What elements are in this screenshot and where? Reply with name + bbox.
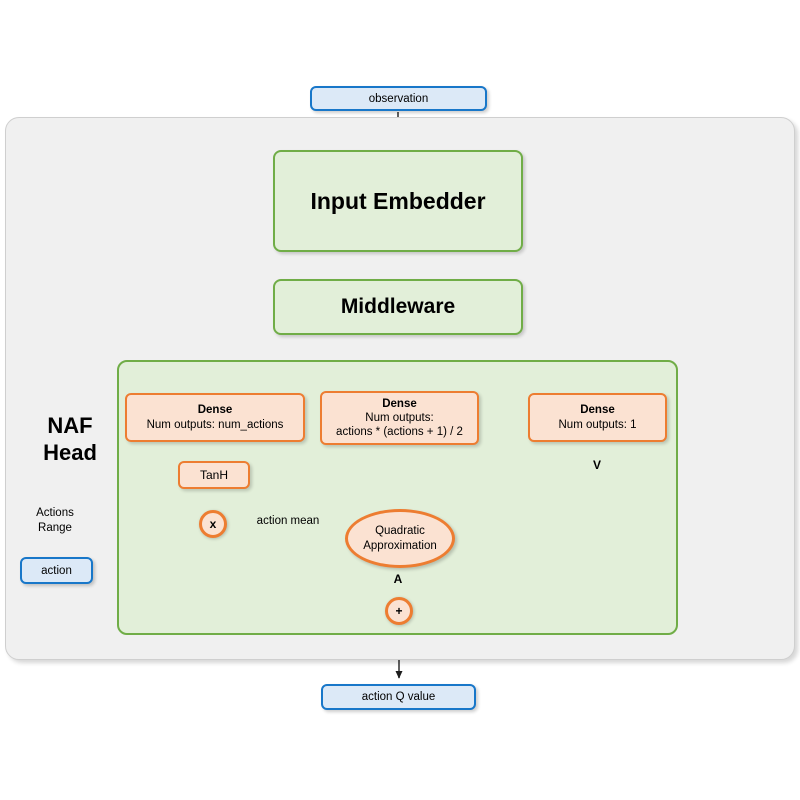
- dense-matrix-detail-line1: Num outputs:: [365, 411, 433, 425]
- multiply-operator[interactable]: x: [199, 510, 227, 538]
- value-stream-label: V: [585, 458, 609, 472]
- dense-actions-node[interactable]: Dense Num outputs: num_actions: [125, 393, 305, 442]
- tanh-label: TanH: [200, 468, 228, 483]
- action-mean-label: action mean: [242, 515, 334, 527]
- dense-value-node[interactable]: Dense Num outputs: 1: [528, 393, 667, 442]
- tanh-node[interactable]: TanH: [178, 461, 250, 489]
- dense-actions-title: Dense: [198, 403, 233, 417]
- dense-matrix-node[interactable]: Dense Num outputs: actions * (actions + …: [320, 391, 479, 445]
- multiply-operator-label: x: [210, 517, 217, 531]
- add-operator-label: +: [395, 604, 402, 618]
- action-q-value-node[interactable]: action Q value: [321, 684, 476, 710]
- observation-node[interactable]: observation: [310, 86, 487, 111]
- dense-value-detail: Num outputs: 1: [559, 418, 637, 432]
- observation-label: observation: [369, 93, 428, 105]
- quadratic-approximation-line1: Quadratic: [375, 524, 425, 538]
- action-q-value-label: action Q value: [362, 691, 436, 703]
- naf-head-label: NAF Head: [22, 413, 118, 467]
- dense-value-title: Dense: [580, 403, 615, 417]
- action-node[interactable]: action: [20, 557, 93, 584]
- dense-matrix-title: Dense: [382, 397, 417, 411]
- advantage-stream-label: A: [386, 572, 410, 586]
- input-embedder-label: Input Embedder: [310, 188, 485, 215]
- dense-matrix-detail-line2: actions * (actions + 1) / 2: [336, 425, 463, 439]
- middleware-label: Middleware: [341, 295, 455, 319]
- action-label: action: [41, 565, 72, 577]
- input-embedder-node[interactable]: Input Embedder: [273, 150, 523, 252]
- diagram-canvas: NAF Head observation action action Q val…: [0, 0, 800, 800]
- quadratic-approximation-line2: Approximation: [363, 539, 437, 553]
- actions-range-label: Actions Range: [16, 506, 94, 536]
- quadratic-approximation-node[interactable]: Quadratic Approximation: [345, 509, 455, 568]
- middleware-node[interactable]: Middleware: [273, 279, 523, 335]
- dense-actions-detail: Num outputs: num_actions: [147, 418, 284, 432]
- add-operator[interactable]: +: [385, 597, 413, 625]
